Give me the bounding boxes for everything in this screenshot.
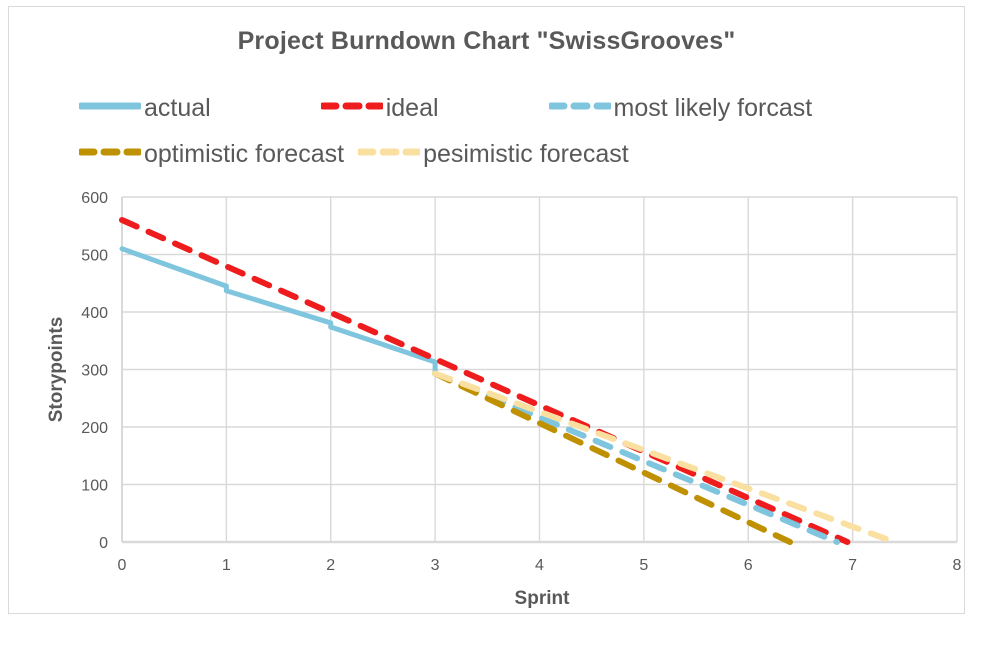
y-tick-label: 500: [81, 248, 108, 265]
y-tick-label: 200: [81, 420, 108, 437]
series-line-optimistic-forecast: [435, 374, 790, 542]
x-tick-label: 1: [222, 557, 231, 574]
x-tick-label: 5: [639, 557, 648, 574]
x-axis-title: Sprint: [515, 588, 571, 609]
y-tick-label: 300: [81, 363, 108, 380]
x-tick-label: 4: [535, 557, 544, 574]
y-tick-label: 0: [99, 535, 108, 552]
series-line-ideal: [122, 220, 847, 542]
chart-card: Project Burndown Chart "SwissGrooves" ac…: [8, 6, 965, 614]
series-line-actual: [122, 249, 435, 374]
y-tick-label: 100: [81, 478, 108, 495]
x-tick-label: 6: [744, 557, 753, 574]
y-tick-label: 400: [81, 305, 108, 322]
y-axis-title: Storypoints: [46, 317, 67, 423]
x-tick-label: 3: [431, 557, 440, 574]
x-tick-label: 7: [848, 557, 857, 574]
x-tick-label: 8: [953, 557, 962, 574]
chart-svg: 0100200300400500600012345678SprintStoryp…: [9, 7, 981, 641]
x-tick-label: 2: [326, 557, 335, 574]
x-tick-label: 0: [118, 557, 127, 574]
y-tick-label: 600: [81, 190, 108, 207]
plot-area: 0100200300400500600012345678SprintStoryp…: [9, 7, 981, 641]
series-line-pesimistic-forecast: [435, 374, 894, 542]
